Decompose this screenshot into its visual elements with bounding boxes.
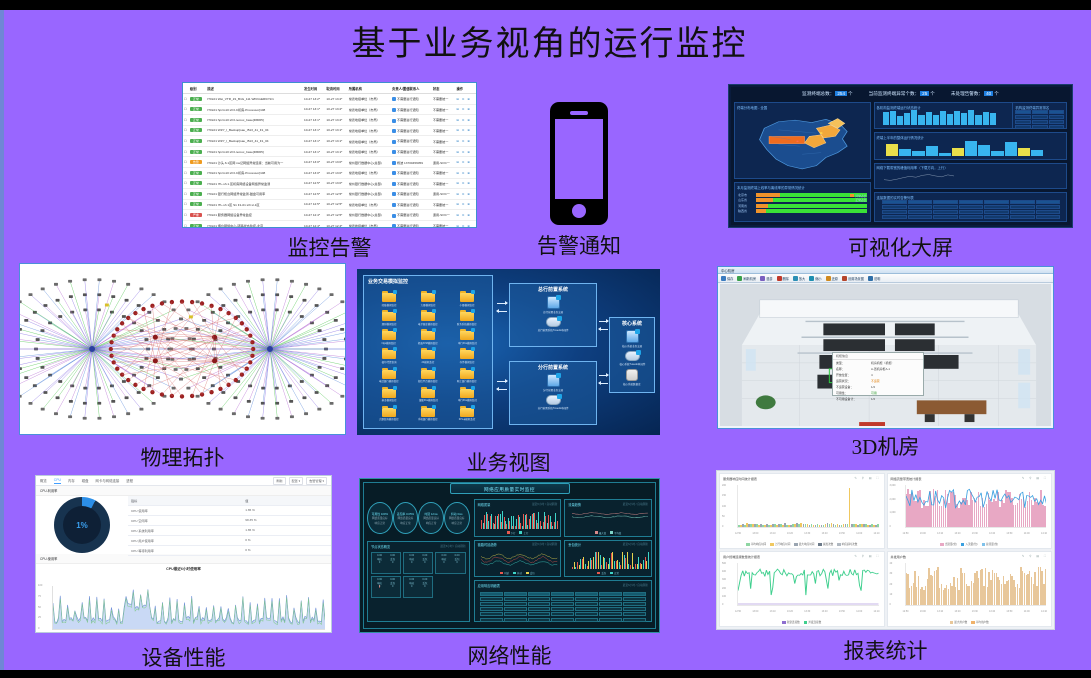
alarm-table: 级别描述发生时间取消时间所属机构负责人/置值联系人状态操作☐正常IT0L01 W…: [183, 83, 476, 228]
room-toolbar-刷新机房[interactable]: 刷新机房: [737, 276, 756, 281]
cpu-gauge: 1%: [54, 497, 110, 553]
net-table-rows: [480, 592, 646, 620]
cpu-history-chart[interactable]: CPU最近6小时使用率 1007550250 09:0009:3010:0010…: [36, 564, 331, 633]
table-row[interactable]: ☐正常IT0L01 hpzm10 sfr3-remux_base[D8065]1…: [183, 146, 476, 157]
alarm-severity-cell: 正常: [189, 104, 206, 115]
metrics-col-value: 值: [245, 498, 328, 503]
table-row[interactable]: ☐正常IT0L01 烟台网络中心-链路状态监控-北京10-27 12:4*10-…: [183, 220, 476, 228]
bigscreen-body: 终端分布地图 - 全国: [734, 102, 1067, 222]
bar: [899, 149, 911, 156]
table-cell: [480, 618, 503, 622]
folder-status-badge: [393, 405, 397, 409]
cell-state-a: 0: [379, 585, 380, 588]
network-ring-0[interactable]: 可用性 100%网络质量良好响应正常: [367, 502, 393, 534]
alarm-end-time: 10-27 12:5*: [325, 189, 347, 200]
bar: [890, 111, 896, 126]
alarm-actions-cell[interactable]: ⊞ ⊙ ⊕: [455, 104, 476, 115]
cell-state-row: 00: [405, 561, 431, 564]
table-cell: [599, 602, 622, 606]
x-tick: 13:10: [770, 532, 776, 535]
node-cell-3[interactable]: 0.000.00响应丢包00: [371, 576, 401, 598]
table-cell: [551, 612, 574, 616]
report-chart-toolbar[interactable]: ✎ ⚲ ▤ ⛶: [1022, 476, 1048, 481]
report-chart-0[interactable]: 服务器响应时间统计报表✎ ⚲ ▤ ⛶20015010050012:5013:00…: [719, 473, 885, 549]
bar: [961, 113, 967, 126]
business-view-screenshot[interactable]: 业务交易模拟监控 转账模拟监控大额模拟监控小额模拟监控理财模拟监控电子国库模拟监…: [357, 269, 660, 435]
table-cell: [1010, 205, 1035, 209]
popup-key: 运营状况：: [836, 379, 868, 383]
biz-hq-frontend-pane[interactable]: 总行前置系统 总行前置业务交易 总行前置系统Tuxedo中间件: [509, 283, 597, 347]
owner-avatar-icon: [392, 171, 396, 175]
biz-folder-item[interactable]: 网上银行模拟监控: [448, 368, 486, 386]
legend-item[interactable]: 最大响应时间: [794, 542, 814, 546]
alarm-org-cell: 常德地级单位（市局）: [348, 199, 391, 210]
alarm-owner-cell: 不需要进行通知: [391, 146, 432, 157]
table-cell: [575, 602, 598, 606]
alarm-org-cell: 常德地级单位（市局）: [348, 136, 391, 147]
alarm-col-header: 状态: [432, 83, 456, 94]
phone-body: [550, 102, 608, 225]
alarm-actions-cell[interactable]: ⊞ ⊙ ⊕: [455, 115, 476, 126]
legend-swatch: [850, 198, 854, 201]
alarm-actions-cell[interactable]: ⊞ ⊙ ⊕: [455, 220, 476, 228]
table-row[interactable]: ☐正常IT0L01 Wei_VTR_Z1_B1G_111 WKKGER67/1/…: [183, 94, 476, 105]
folder-status-badge: [393, 328, 397, 332]
rank-cell: [1049, 110, 1065, 114]
report-chart-toolbar[interactable]: ✎ ⚲ ▤ ⛶: [1022, 554, 1048, 559]
biz-folder-item[interactable]: 柜面ATM模拟监控: [409, 329, 447, 347]
legend-item[interactable]: 失败次数: [818, 542, 833, 546]
bandwidth-line-widget[interactable]: 网络下载带宽的峰值利用率（下载方向，上行）: [874, 163, 1067, 189]
alarm-owner-cell: 不需要进行通知: [391, 94, 432, 105]
alarm-actions-cell[interactable]: ⊞ ⊙ ⊕: [455, 167, 476, 178]
room-toolbar-缩小[interactable]: 缩小: [809, 276, 821, 281]
network-quality-chart[interactable]: 网络质量最近6小时 / 自动刷新 下行上行: [474, 499, 562, 537]
folder-body: [421, 312, 435, 321]
report-legend-2: 新建连接数并发连接数: [720, 620, 884, 624]
status-badge: 正常: [190, 150, 202, 154]
room-3d-canvas[interactable]: 机柜信息 类型：机房机柜（机柜）名称：A-置机房柜A-1开放位置：4运营状况：不…: [720, 284, 1051, 426]
alarm-end-time: 10-27 12:4*: [325, 220, 347, 228]
caption-bizview: 业务视图: [357, 447, 660, 477]
alarm-desc-cell: IT0L01 Wei_VTR_Z1_B1G_111 WKKGER67/1/1: [206, 94, 303, 105]
folder-status-badge: [432, 309, 436, 313]
table-cell: [504, 592, 527, 596]
alarm-start-time: 10-27 13:0*: [303, 157, 325, 168]
alarm-actions-cell[interactable]: ⊞ ⊙ ⊕: [455, 146, 476, 157]
alarm-status-cell: 通用-SOC一: [432, 157, 456, 168]
table-row[interactable]: ☐正常IT0L01 hpzm10 sfr3-C机房-Processor[1081…: [183, 104, 476, 115]
biz-core-node-3: 核心系统数据库: [610, 369, 654, 386]
table-row: [882, 210, 1060, 214]
table-cell: [551, 618, 574, 622]
room-toolbar[interactable]: 保存刷新机房漫游删除放大缩小还原设置场景图说明: [718, 274, 1053, 283]
table-row: [480, 602, 646, 606]
report-chart-1[interactable]: 网络流量带宽统计报表✎ ⚲ ▤ ⛶3,0002,0001,000012:5013…: [887, 473, 1053, 549]
room-toolbar-漫游[interactable]: 漫游: [760, 276, 772, 281]
popup-value: 4: [871, 373, 873, 377]
report-chart-toolbar[interactable]: ✎ ⚲ ▤ ⛶: [854, 554, 880, 559]
kpi-label: 当前监测终端异常个数：: [869, 91, 920, 96]
device-button-配置 ▾[interactable]: 配置 ▾: [289, 477, 304, 485]
device-performance-screenshot[interactable]: 概览CPU内存磁盘网卡与网络连接进程刷新配置 ▾告警管理 ▾ CPU-利用率 1…: [35, 475, 332, 633]
report-chart-title: 并发用户数: [891, 554, 906, 559]
alarm-actions-cell[interactable]: ⊞ ⊙ ⊕: [455, 199, 476, 210]
network-ring-3[interactable]: 抖动 3ms网络质量良好响应正常: [444, 502, 470, 534]
legend-item[interactable]: 响应超时次数: [837, 542, 857, 546]
report-chart-title: 网络流量带宽统计报表: [891, 476, 922, 481]
biz-folder-item[interactable]: 24模拟监控: [409, 348, 447, 366]
legend-item[interactable]: 总流量(位): [982, 542, 999, 546]
biz-branch-frontend-pane[interactable]: 分行前置系统 分行前置业务交易 分行前置系统Tuxedo中间件: [509, 361, 597, 425]
cell-state-a: 0: [411, 585, 412, 588]
progress-track: [756, 209, 867, 213]
bar: [952, 148, 964, 156]
bar: [947, 114, 953, 126]
toolbar-icon: [721, 276, 726, 281]
biz-folder-label: 大额查询模拟监控: [379, 418, 399, 422]
node-cell-1[interactable]: 0.000.00响应丢包00: [403, 552, 433, 574]
room-toolbar-说明[interactable]: 说明: [868, 276, 880, 281]
x-tick: 12:50: [735, 532, 741, 535]
metric-name: CPU 系统利用率: [131, 528, 245, 533]
table-cell: [1036, 215, 1061, 219]
legend-item[interactable]: 平均用户数: [971, 620, 988, 624]
node-cell-0[interactable]: 0.000.00响应丢包00: [371, 552, 401, 574]
report-chart-title: 服务器响应时间统计报表: [723, 476, 757, 481]
biz-folder-item[interactable]: 存件模拟监控: [448, 348, 486, 366]
alarm-owner-cell: 不需要进行通知: [391, 178, 432, 189]
terminal-status-bar-widget[interactable]: 各机构监测终端运行状态统计 机构监测终端异常排名: [874, 102, 1067, 129]
alarm-actions-cell[interactable]: ⊞ ⊙ ⊕: [455, 125, 476, 136]
visualization-bigscreen-screenshot[interactable]: 监测终端总数：254个当前监测终端异常个数：25个未处理告警数：40个 终端分布…: [728, 84, 1073, 228]
rank-row: [1015, 120, 1064, 124]
device-button-告警管理 ▾[interactable]: 告警管理 ▾: [306, 477, 327, 485]
legend-item[interactable]: 平均响应时间: [746, 542, 766, 546]
x-tick: 13:40: [822, 610, 828, 613]
tab-概览[interactable]: 概览: [40, 478, 47, 483]
bar: [557, 521, 558, 529]
folder-icon: [421, 329, 435, 340]
network-ring-1[interactable]: 丢包率 0.05%网络质量良好响应正常: [393, 502, 419, 534]
bar: [1045, 569, 1046, 605]
half-year-trend-widget[interactable]: 终端上半年的整体运行情况统计: [874, 132, 1067, 159]
progress-row-label: 河南省: [738, 204, 754, 208]
room-toolbar-放大[interactable]: 放大: [793, 276, 805, 281]
device-tab-bar[interactable]: 概览CPU内存磁盘网卡与网络连接进程刷新配置 ▾告警管理 ▾: [36, 476, 331, 486]
biz-folder-item[interactable]: ICS卡模拟监控: [448, 406, 486, 424]
room-toolbar-删除[interactable]: 删除: [777, 276, 789, 281]
biz-folder-item[interactable]: 福尔代资查询: [370, 348, 408, 366]
device-section-cpu-util: CPU-利用率: [36, 486, 331, 496]
alarm-actions-cell[interactable]: ⊞ ⊙ ⊕: [455, 178, 476, 189]
table-cell: [575, 607, 598, 611]
kpi-value: 25: [920, 91, 929, 96]
tab-CPU[interactable]: CPU: [54, 478, 61, 484]
owner-avatar-icon: [392, 150, 396, 154]
kpi-item-1: 当前监测终端异常个数：25个: [869, 91, 935, 97]
biz-branch-title: 分行前置系统: [510, 362, 596, 371]
alarm-desc-cell: IT0L01 ITL-sh 1区 S1 F1-01 sl3 sl-1区: [206, 199, 303, 210]
table-row[interactable]: ☐严重IT0L01 服务器网络设备异常监控10-27 12:4*10-27 12…: [183, 210, 476, 221]
tab-内存[interactable]: 内存: [68, 478, 75, 483]
rank-cell: [1032, 110, 1048, 114]
metric-name: CPU 空闲率: [131, 518, 245, 523]
x-tick: 13:30: [804, 610, 810, 613]
table-row[interactable]: ☐正常IT0L01 银行柜台网络异常监测-磁盘可用率10-27 12:5*10-…: [183, 189, 476, 200]
alarm-col-header: 取消时间: [325, 83, 347, 94]
caption-3d-room: 3D机房: [717, 431, 1054, 461]
table-cell: [984, 215, 1009, 219]
report-plot-1: [905, 485, 1047, 528]
folder-status-badge: [471, 309, 475, 313]
owner-avatar-icon: [392, 140, 396, 144]
alarm-actions-cell[interactable]: ⊞ ⊙ ⊕: [455, 157, 476, 168]
legend-item[interactable]: 入流量(位): [961, 542, 978, 546]
table-row: [480, 618, 646, 622]
biz-folder-item[interactable]: 财务系统模拟监控: [448, 310, 486, 328]
alarm-start-time: 10-27 13:1*: [303, 146, 325, 157]
table-row[interactable]: ☐正常IT0L01 hpzm10 sfr3-C机房-Processor[1081…: [183, 167, 476, 178]
room-toolbar-保存[interactable]: 保存: [721, 276, 733, 281]
x-tick: 14:00: [856, 610, 862, 613]
legend-swatch: [818, 543, 822, 547]
alarm-status-cell: 不需要统一: [432, 199, 456, 210]
alarm-actions-cell[interactable]: ⊞ ⊙ ⊕: [455, 94, 476, 105]
biz-folder-item[interactable]: Ngs模拟监控: [370, 329, 408, 347]
tab-进程[interactable]: 进程: [126, 478, 133, 483]
table-cell: [1010, 210, 1035, 214]
arrow-hq-to-core: [599, 321, 608, 322]
folder-body: [421, 331, 435, 340]
biz-hq-node-1: 总行前置业务交易: [510, 296, 596, 314]
kpi-value: 40: [984, 91, 993, 96]
folder-icon: [460, 310, 474, 321]
traffic-trend-chart[interactable]: 流量趋势最近6小时 / 自动刷新 最大值平均值: [564, 499, 652, 537]
arrow-core-to-branch: [599, 383, 608, 384]
folder-icon: [460, 291, 474, 302]
table-row[interactable]: ☐告警IT0L01 沙头.6.1区网 sw记网络异常连接：当前可用为一10-27…: [183, 157, 476, 168]
legend-swatch: [940, 543, 944, 547]
biz-folder-label: 财务系统模拟监控: [457, 322, 477, 326]
table-cell: [984, 200, 1009, 204]
node-cell-2[interactable]: 0.000.00响应丢包00: [435, 552, 465, 574]
alarm-severity-cell: 告警: [189, 157, 206, 168]
alarm-owner-cell: 不需要进行通知: [391, 220, 432, 228]
report-y-ticks-0: 200150100500: [722, 484, 726, 528]
folder-icon: [460, 387, 474, 398]
alarm-notification-phone-icon[interactable]: [550, 102, 608, 225]
biz-folder-item[interactable]: 手机银行模拟监控: [409, 406, 447, 424]
alarm-status-cell: 不需要统一: [432, 125, 456, 136]
table-cell: [623, 618, 646, 622]
table-row[interactable]: ☐正常IT0L01 ITL-sh 1区 S1 F1-01 sl3 sl-1区10…: [183, 199, 476, 210]
packetloss-chart[interactable]: 丢包统计最近6小时 / 自动刷新 丢包正常: [564, 540, 652, 578]
toolbar-icon: [793, 276, 798, 281]
table-row: [480, 597, 646, 601]
status-badge: 正常: [190, 202, 202, 206]
x-tick: 13:00: [752, 532, 758, 535]
legend-item[interactable]: 新建连接数: [782, 620, 799, 624]
table-row[interactable]: ☐正常IT0L01 WZY_I_Backup[sau_I513_41_F1_04…: [183, 136, 476, 147]
biz-core-system-pane[interactable]: 核心系统 核心系统业务交易 核心系统Tuxedo中间件 核心系统数据库: [609, 317, 655, 393]
alarm-end-time: 10-27 13:1*: [325, 125, 347, 136]
alarm-col-header: 操作: [455, 83, 476, 94]
table-row[interactable]: ☐正常IT0L01 WZY_I_Backup[sau_I513_41_F1_04…: [183, 125, 476, 136]
device-button-group: 刷新配置 ▾告警管理 ▾: [273, 477, 327, 485]
legend-item[interactable]: 并发连接数: [804, 620, 821, 624]
x-tick: 13:40: [989, 532, 995, 535]
biz-folder-item[interactable]: 电话银行模拟监控: [370, 368, 408, 386]
alarm-org-cell: 常德地级单位（市局）: [348, 104, 391, 115]
half-year-trend-bars: [886, 139, 1043, 156]
alarm-desc-cell: IT0L01 ITL-sh.1.区机房网络设备网络异常监测: [206, 178, 303, 189]
table-cell: [480, 592, 503, 596]
realtime-alarm-table-widget[interactable]: 连接数据的实时告警列表: [874, 192, 1067, 222]
room-toolbar-还原[interactable]: 还原: [826, 276, 838, 281]
app-node-icon: [626, 330, 639, 343]
folder-status-badge: [393, 309, 397, 313]
network-left-column: 可用性 100%网络质量良好响应正常丢包率 0.05%网络质量良好响应正常时延 …: [367, 499, 470, 622]
popup-value: A-置机房柜A-1: [871, 367, 890, 371]
alarm-severity-cell: 严重: [189, 210, 206, 221]
middleware-cloud-icon: [625, 351, 640, 361]
toolbar-icon: [868, 276, 873, 281]
phone-speaker: [570, 111, 588, 115]
metric-value: 98.35 %: [245, 518, 328, 523]
alarm-owner-cell: 不需要进行通知: [391, 125, 432, 136]
network-dashboard-title: 网络应用质量实时监控: [450, 483, 570, 494]
popup-key: 可用性：: [836, 391, 868, 395]
biz-folder-item[interactable]: 理财模拟监控: [370, 310, 408, 328]
y-tick: 25: [38, 616, 42, 619]
biz-folder-item[interactable]: 电子国库模拟监控: [409, 310, 447, 328]
network-performance-screenshot[interactable]: 网络应用质量实时监控 可用性 100%网络质量良好响应正常丢包率 0.05%网络…: [359, 478, 660, 633]
cpu-chart-svg: [53, 586, 325, 629]
owner-avatar-icon: [392, 182, 396, 186]
network-ring-2[interactable]: 时延 12ms网络质量良好响应正常: [418, 502, 444, 534]
biz-transaction-sim-pane[interactable]: 业务交易模拟监控 转账模拟监控大额模拟监控小额模拟监控理财模拟监控电子国库模拟监…: [363, 275, 493, 429]
app-response-table-card[interactable]: 应用响应明细表最近6小时 / 自动刷新: [474, 580, 652, 622]
legend-swatch: [971, 621, 975, 625]
tab-磁盘[interactable]: 磁盘: [82, 478, 89, 483]
legend-item[interactable]: 出流量(位): [940, 542, 957, 546]
status-badge: 告警: [190, 160, 202, 164]
node-status-card[interactable]: 节点状态概览 最近6小时 / 自动刷新 0.000.00响应丢包000.000.…: [367, 541, 470, 622]
china-map-widget[interactable]: 终端分布地图 - 全国: [734, 102, 871, 179]
owner-avatar-icon: [392, 119, 396, 123]
cpu-chart-plot: [52, 586, 325, 630]
owner-avatar-icon: [392, 129, 396, 133]
alarm-col-header: 级别: [189, 83, 206, 94]
report-chart-3[interactable]: 并发用户数✎ ⚲ ▤ ⛶40302010012:5013:0013:1013:2…: [887, 551, 1053, 627]
room-toolbar-设置场景图[interactable]: 设置场景图: [842, 276, 864, 281]
biz-folder-item[interactable]: 小额模拟监控: [448, 291, 486, 309]
x-tick: 13:20: [954, 532, 960, 535]
y-tick: 200: [722, 484, 726, 487]
cell-state-row: 00: [373, 561, 399, 564]
monitoring-alarm-screenshot[interactable]: 级别描述发生时间取消时间所属机构负责人/置值联系人状态操作☐正常IT0L01 W…: [182, 82, 477, 228]
alarm-status-cell: 不需要统一: [432, 136, 456, 147]
arrow-branch-to-core: [599, 375, 608, 376]
alarm-actions-cell[interactable]: ⊞ ⊙ ⊕: [455, 189, 476, 200]
node-status-card-header: 节点状态概览 最近6小时 / 自动刷新: [368, 542, 469, 550]
y-tick: 0: [890, 525, 896, 528]
table-cell: [551, 592, 574, 596]
alarm-actions-cell[interactable]: ⊞ ⊙ ⊕: [455, 136, 476, 147]
biz-folder-label: 大额模拟监控: [421, 303, 436, 307]
node-cell-4[interactable]: 0.000.00响应丢包00: [403, 576, 433, 598]
kpi-label: 未处理告警数：: [951, 91, 983, 96]
alarm-org-cell: 常德地级单位（市局）: [348, 146, 391, 157]
x-tick: 13:50: [839, 610, 845, 613]
biz-folder-item[interactable]: 本行Pos模拟监控: [448, 329, 486, 347]
owner-avatar-icon: [392, 161, 396, 165]
x-tick: 13:30: [972, 610, 978, 613]
tab-网卡与网络连接[interactable]: 网卡与网络连接: [96, 478, 120, 483]
biz-folder-item[interactable]: 银联Pos模拟监控: [409, 387, 447, 405]
latency-trend-chart[interactable]: 链路时延趋势最近6小时 / 自动刷新 时延抖动丢包: [474, 540, 562, 578]
alarm-status-cell: 不需要统一: [432, 94, 456, 105]
biz-hq-node-2: 总行前置系统Tuxedo中间件: [510, 317, 596, 332]
biz-folder-item[interactable]: 短信平台模拟监控: [409, 368, 447, 386]
report-chart-toolbar[interactable]: ✎ ⚲ ▤ ⛶: [854, 476, 880, 481]
top-black-bar: [0, 0, 1091, 10]
biz-folder-item[interactable]: 本行Pos模拟监控: [448, 387, 486, 405]
ring-status-2: 响应正常: [375, 521, 385, 525]
table-cell: [528, 592, 551, 596]
bigscreen-inner: 监测终端总数：254个当前监测终端异常个数：25个未处理告警数：40个 终端分布…: [731, 87, 1070, 225]
caption-topology: 物理拓扑: [19, 442, 346, 472]
alarm-owner-cell: 不需要进行通知: [391, 136, 432, 147]
arrow-core-to-hq: [599, 329, 608, 330]
bar: [991, 151, 1003, 156]
folder-body: [460, 331, 474, 340]
device-button-刷新[interactable]: 刷新: [273, 477, 285, 485]
table-row[interactable]: ☐正常IT0L01 hpzm10 sfr3-remux_base[D8065]1…: [183, 115, 476, 126]
bar: [968, 110, 974, 125]
table-row[interactable]: ☐正常IT0L01 ITL-sh.1.区机房网络设备网络异常监测10-27 12…: [183, 178, 476, 189]
x-tick: 14:00: [1024, 532, 1030, 535]
3d-datacenter-screenshot[interactable]: 中心机房 保存刷新机房漫游删除放大缩小还原设置场景图说明: [717, 266, 1054, 429]
biz-folder-item[interactable]: 大额查询模拟监控: [370, 406, 408, 424]
report-chart-2[interactable]: 用户终端连接数量统计报表✎ ⚲ ▤ ⛶500400300200100012:50…: [719, 551, 885, 627]
legend-item[interactable]: 最大用户数: [950, 620, 967, 624]
biz-folder-item[interactable]: 转账模拟监控: [370, 291, 408, 309]
status-badge: 正常: [190, 224, 202, 228]
legend-item[interactable]: 上行响应时间: [770, 542, 790, 546]
alarm-actions-cell[interactable]: ⊞ ⊙ ⊕: [455, 210, 476, 221]
biz-folder-item[interactable]: 基金模拟监控: [370, 387, 408, 405]
online-offline-progress-widget[interactable]: 本月监测终端上线率与离线率的异常情况统计 北京市山东省河南省陕西省 异常占比正常…: [734, 182, 871, 222]
biz-folder-label: 本行Pos模拟监控: [457, 398, 476, 402]
x-tick: 13:00: [920, 532, 926, 535]
net-chart-3-time: 最近6小时 / 自动刷新: [532, 542, 557, 547]
biz-folder-item[interactable]: 大额模拟监控: [409, 291, 447, 309]
legend-swatch: [850, 194, 854, 197]
biz-branch-node-1: 分行前置业务交易: [510, 374, 596, 392]
net-chart-3-svg: [481, 550, 557, 569]
folder-status-badge: [471, 367, 475, 371]
alarm-start-time: 10-27 13:2*: [303, 94, 325, 105]
physical-topology-screenshot[interactable]: [19, 263, 346, 435]
table-cell: [551, 607, 574, 611]
status-badge: 正常: [190, 181, 202, 185]
report-statistics-screenshot[interactable]: 服务器响应时间统计报表✎ ⚲ ▤ ⛶20015010050012:5013:00…: [716, 470, 1055, 630]
bar: [897, 116, 903, 125]
alarm-severity-cell: 正常: [189, 167, 206, 178]
page-title: 基于业务视角的运行监控: [4, 16, 1091, 65]
